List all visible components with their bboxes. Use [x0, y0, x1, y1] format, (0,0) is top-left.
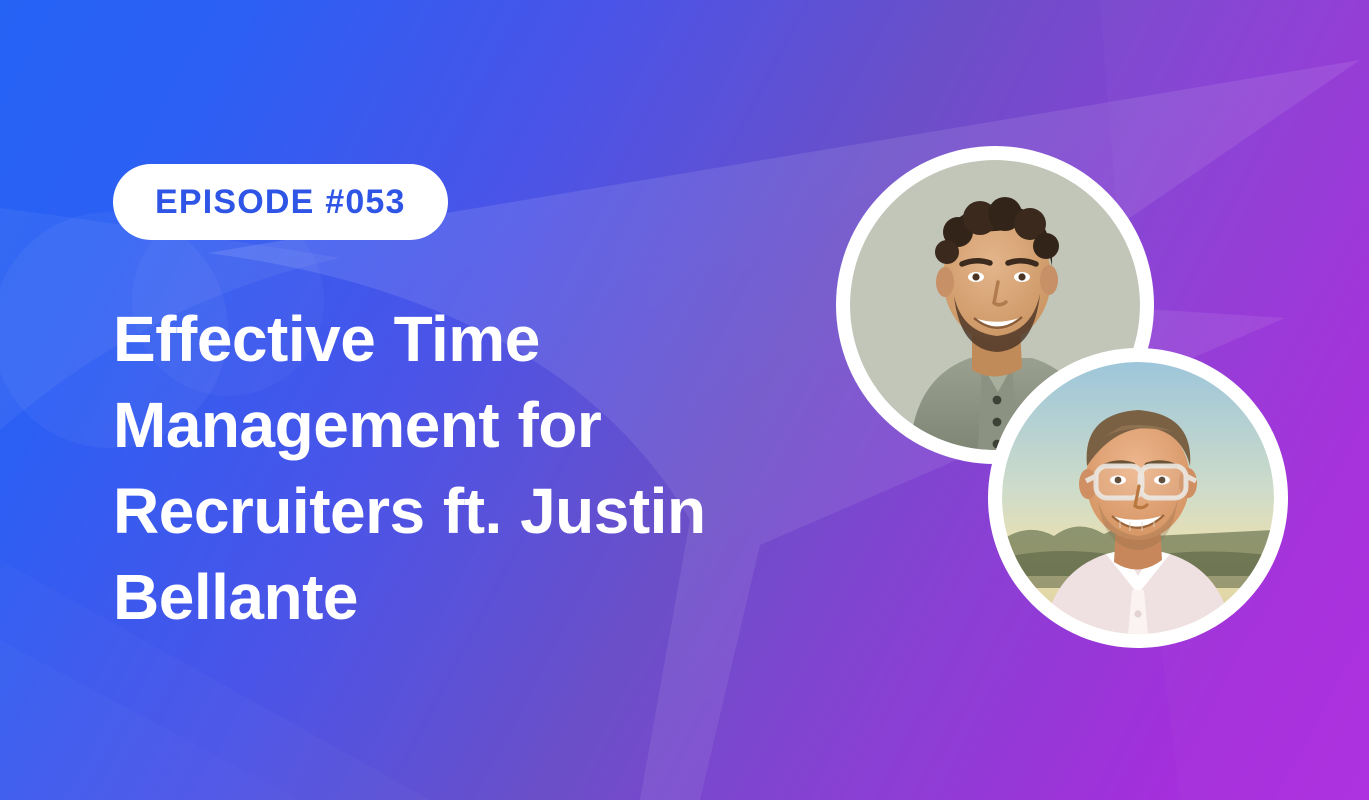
episode-cover-canvas: EPISODE #053 Effective Time Management f… [0, 0, 1369, 800]
avatar-guest-justin-bellante[interactable] [988, 348, 1288, 648]
page-title: Effective Time Management for Recruiters… [113, 296, 753, 640]
episode-badge[interactable]: EPISODE #053 [113, 164, 448, 240]
avatar-guest-justin-bellante-image [1002, 362, 1274, 634]
episode-badge-label: EPISODE #053 [155, 185, 406, 219]
episode-content: EPISODE #053 Effective Time Management f… [113, 0, 773, 800]
